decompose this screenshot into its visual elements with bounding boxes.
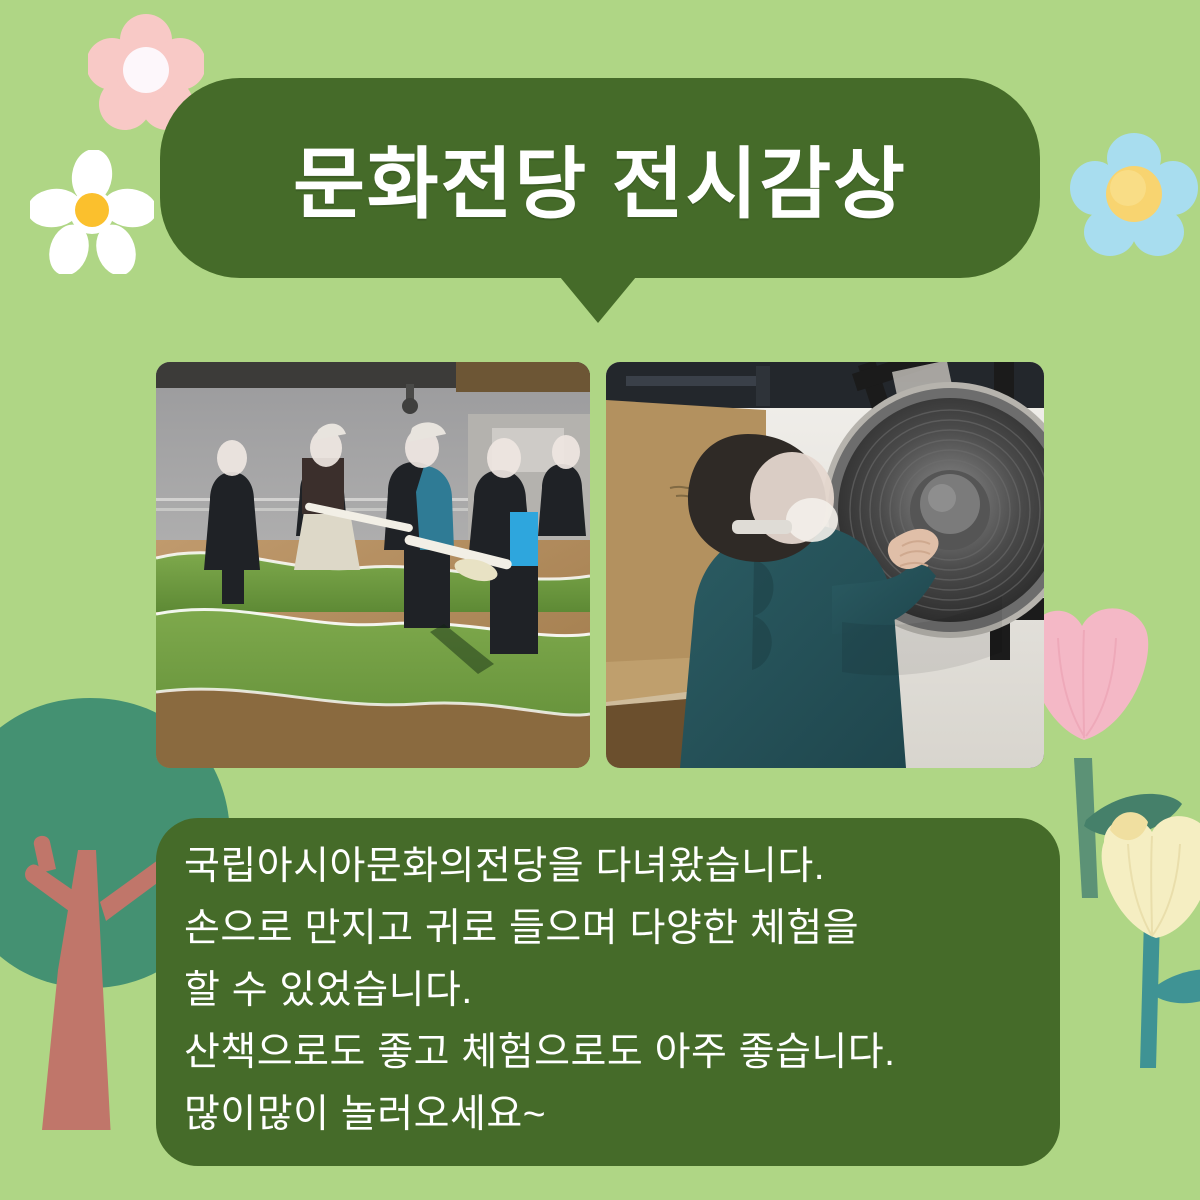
page-title: 문화전당 전시감상 <box>160 78 1040 278</box>
flower-blue-icon <box>1068 130 1200 262</box>
promo-card: 문화전당 전시감상 <box>0 0 1200 1200</box>
photo-exhibition-green-hills <box>156 362 590 768</box>
flower-daisy-icon <box>30 150 154 274</box>
body-text-bubble: 국립아시아문화의전당을 다녀왔습니다. 손으로 만지고 귀로 들으며 다양한 체… <box>156 818 1060 1166</box>
body-text: 국립아시아문화의전당을 다녀왔습니다. 손으로 만지고 귀로 들으며 다양한 체… <box>184 836 1036 1146</box>
tulip-cream-icon <box>1090 790 1200 1090</box>
title-bubble: 문화전당 전시감상 <box>160 78 1040 278</box>
photo-speaker-touch <box>606 362 1044 768</box>
bubble-tail <box>560 277 636 323</box>
